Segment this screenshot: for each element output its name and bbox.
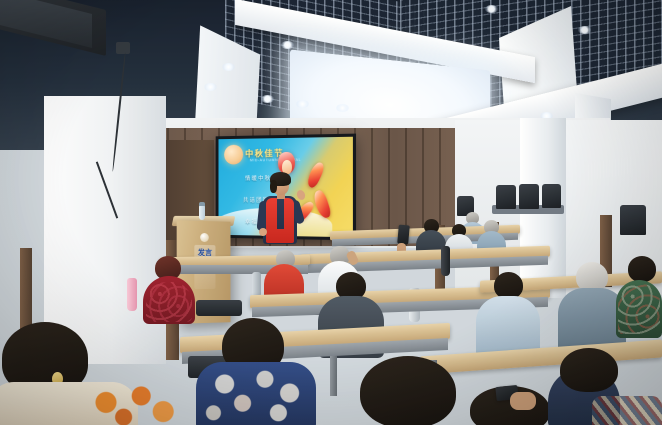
floral-pattern	[200, 366, 312, 425]
audience-head	[360, 356, 456, 425]
downlight-icon	[336, 104, 349, 112]
audience-head	[628, 256, 656, 282]
moon-icon	[224, 145, 243, 165]
desk-row	[420, 340, 662, 375]
koi-fish-icon	[305, 161, 326, 190]
blouse-pattern	[146, 282, 192, 322]
desk-leg	[330, 356, 337, 396]
speaker-hand	[259, 228, 267, 236]
floral-pattern	[84, 384, 194, 425]
downlight-icon	[222, 63, 235, 71]
blouse-pattern	[618, 284, 660, 334]
downlight-icon	[485, 5, 498, 13]
podium-emblem-icon	[200, 233, 209, 242]
background-chair	[496, 185, 516, 209]
black-thermos	[441, 246, 450, 276]
background-chair	[519, 184, 539, 209]
slide-bullet: 情暖中秋	[245, 174, 271, 182]
downlight-icon	[261, 95, 274, 103]
speaker-hair	[270, 180, 277, 193]
audience-head	[560, 348, 618, 392]
downlight-icon	[204, 83, 217, 91]
speaker-shirt	[277, 199, 284, 229]
audience-head	[494, 272, 523, 299]
monitor-mount-icon	[116, 42, 130, 54]
pink-thermos	[127, 278, 137, 311]
chair-back	[196, 300, 242, 316]
water-bottle	[199, 205, 205, 220]
downlight-icon	[281, 41, 294, 49]
background-chair	[542, 184, 561, 208]
water-bottle-cap	[199, 202, 205, 206]
downlight-icon	[296, 100, 309, 108]
plaid-pattern	[592, 396, 662, 425]
audience-hand	[510, 392, 536, 410]
downlight-icon	[578, 26, 591, 34]
background-chair	[620, 205, 646, 235]
conference-room-photo: 中秋佳节 MID-AUTUMN FESTIVAL 情暖中秋 共话团圆 幸福相伴 …	[0, 0, 662, 425]
smartphone	[397, 225, 410, 245]
